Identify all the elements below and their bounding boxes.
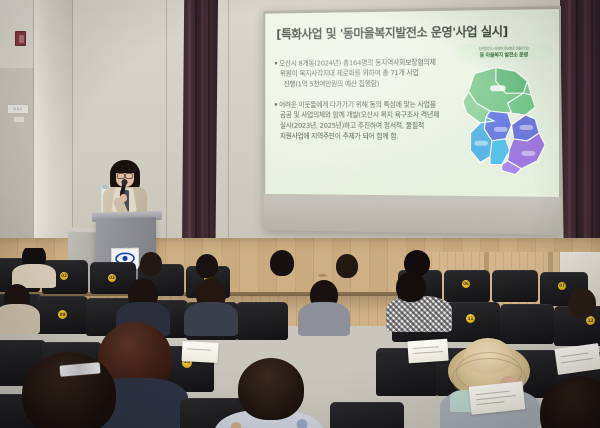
bullet-line: 진행(1억 5천여만원의 예산 집행함) <box>274 78 449 89</box>
stage-curtain-left <box>182 0 218 246</box>
wall-seam <box>228 0 229 244</box>
wall-recess <box>50 0 72 250</box>
bullet-line: 지원사업에 지역주민이 주체가 되어 함께 함. <box>274 131 449 142</box>
audience-head <box>568 288 596 318</box>
audience-shoulders <box>298 302 350 336</box>
map-caption-sub: 민관협력과 시민참여 활성화로 만들어가는 <box>458 45 550 51</box>
seat[interactable] <box>500 304 554 344</box>
map-caption: 민관협력과 시민참여 활성화로 만들어가는 동 마을복지 발전소 운영 <box>455 43 553 61</box>
audience-head <box>22 352 116 428</box>
seat-badge: 07 <box>558 282 566 290</box>
bullet-line: 공공 및 사업의체와 함께 개발(오산시 복지 욕구조사 격년제 <box>274 111 449 121</box>
handout[interactable] <box>407 339 448 364</box>
fire-alarm-icon <box>15 31 26 46</box>
audience-head <box>140 252 162 276</box>
doorway <box>0 68 34 240</box>
wall-seam <box>166 0 167 246</box>
wall-sign: 비상구 <box>7 104 29 114</box>
seat-badge: 09 <box>58 310 67 319</box>
bullet-item: 어려운 이웃들에게 다가가기 위해 동의 특성에 맞는 사업을 공공 및 사업의… <box>274 100 449 142</box>
map-label-pill <box>490 85 506 91</box>
audience-head <box>196 254 218 278</box>
audience-shoulders <box>184 302 238 336</box>
slide-map: 민관협력과 시민참여 활성화로 만들어가는 동 마을복지 발전소 운영 <box>451 43 553 179</box>
photo-scene: 비상구 [특화사업 및 '동마을복지발전소 운영'사업 실시] 오산시 8개동(… <box>0 0 600 428</box>
bullet-line: 실시(2023년, 2025년)하고 추진하여 정서적, 물질적 <box>274 121 449 131</box>
hand <box>120 194 127 202</box>
stage-curtain-right <box>560 0 600 268</box>
seat[interactable] <box>236 302 288 340</box>
audience-head <box>238 358 304 420</box>
handout[interactable] <box>469 381 526 414</box>
glasses-icon <box>116 172 134 177</box>
wall-seam <box>72 0 73 250</box>
bullet-line: 어려운 이웃들에게 다가가기 위해 동의 특성에 맞는 사업을 <box>274 100 449 111</box>
slide-title: [특화사업 및 '동마을복지발전소 운영'사업 실시] <box>276 21 508 43</box>
screen-blank-area <box>263 194 561 235</box>
seat[interactable] <box>492 270 538 302</box>
city-district-map <box>451 63 553 179</box>
projection-screen: [특화사업 및 '동마을복지발전소 운영'사업 실시] 오산시 8개동(2024… <box>263 6 561 235</box>
audience-head <box>336 254 358 278</box>
audience-shoulders <box>0 304 40 334</box>
map-label-pill <box>521 151 535 156</box>
seat[interactable] <box>330 402 404 428</box>
slide-bullets: 오산시 8개동(2024년) 총164명의 동지역사회보장협의체 위원이 복지사… <box>274 57 449 153</box>
light-switch[interactable] <box>13 116 25 123</box>
audience-shoulders <box>386 296 452 332</box>
audience-area: 01 02 03 04 05 06 07 08 09 10 11 12 <box>0 248 600 428</box>
map-caption-main: 동 마을복지 발전소 운영 <box>458 51 550 59</box>
seat-badge: 06 <box>462 280 470 288</box>
map-label-pill <box>494 127 508 132</box>
seat-badge: 03 <box>108 274 116 282</box>
seat-badge: 02 <box>60 272 68 280</box>
bullet-item: 오산시 8개동(2024년) 총164명의 동지역사회보장협의체 위원이 복지사… <box>274 57 449 90</box>
map-label-pill <box>519 125 533 130</box>
presentation-slide: [특화사업 및 '동마을복지발전소 운영'사업 실시] 오산시 8개동(2024… <box>265 9 559 197</box>
seat-badge: 11 <box>466 314 475 323</box>
map-label-pill <box>474 141 488 146</box>
audience-head <box>396 272 426 302</box>
handout[interactable] <box>182 341 219 363</box>
wall-column <box>34 0 50 240</box>
audience-head <box>270 250 294 276</box>
bullet-line: 오산시 8개동(2024년) 총164명의 동지역사회보장협의체 <box>274 57 449 69</box>
